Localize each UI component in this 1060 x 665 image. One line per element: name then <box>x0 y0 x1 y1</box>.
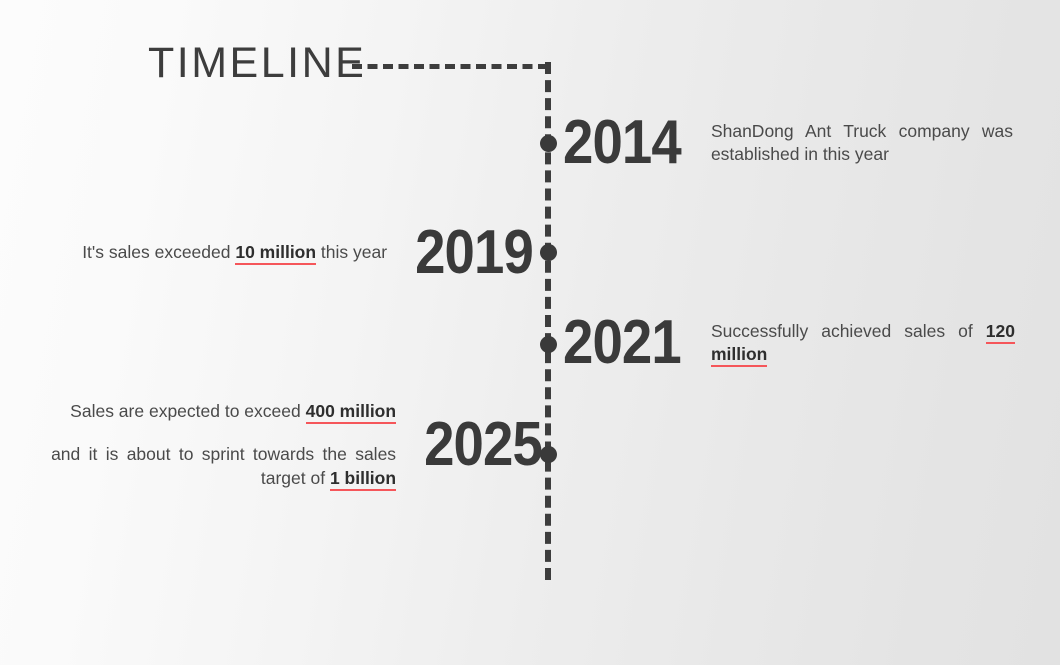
description-paragraph: Successfully achieved sales of 120 milli… <box>711 320 1015 367</box>
timeline-dot-2021 <box>540 336 557 353</box>
highlighted-figure: 1 billion <box>330 468 396 491</box>
title-dashed-connector <box>352 64 548 69</box>
timeline-dot-2014 <box>540 135 557 152</box>
timeline-entry-2014[interactable]: 2014 ShanDong Ant Truck company was esta… <box>563 112 1013 174</box>
description-paragraph: and it is about to sprint towards the sa… <box>51 443 396 490</box>
timeline-entry-2019[interactable]: It's sales exceeded 10 million this year… <box>60 222 533 284</box>
entry-description-2025: Sales are expected to exceed 400 million… <box>51 400 396 490</box>
highlighted-figure: 10 million <box>235 242 316 265</box>
description-text: Successfully achieved sales of <box>711 321 986 341</box>
description-text: Sales are expected to exceed <box>70 401 305 421</box>
timeline-dot-2025 <box>540 446 557 463</box>
description-text: It's sales exceeded <box>82 242 235 262</box>
entry-description-2014: ShanDong Ant Truck company was establish… <box>711 120 1013 167</box>
timeline-entry-2021[interactable]: 2021 Successfully achieved sales of 120 … <box>563 312 1015 374</box>
year-label-2019: 2019 <box>415 222 533 284</box>
description-paragraph: Sales are expected to exceed 400 million <box>51 400 396 423</box>
timeline-entry-2025[interactable]: Sales are expected to exceed 400 million… <box>40 400 542 490</box>
timeline-dot-2019 <box>540 244 557 261</box>
year-label-2021: 2021 <box>563 312 681 374</box>
entry-description-2021: Successfully achieved sales of 120 milli… <box>711 320 1015 367</box>
entry-description-2019: It's sales exceeded 10 million this year <box>70 241 387 264</box>
year-label-2014: 2014 <box>563 112 681 174</box>
year-label-2025: 2025 <box>424 414 542 476</box>
page-title: TIMELINE <box>148 42 366 85</box>
description-text: ShanDong Ant Truck company was establish… <box>711 121 1013 164</box>
description-paragraph: ShanDong Ant Truck company was establish… <box>711 120 1013 167</box>
description-paragraph: It's sales exceeded 10 million this year <box>70 241 387 264</box>
timeline-infographic: TIMELINE 2014 ShanDong Ant Truck company… <box>0 0 1060 665</box>
description-text: this year <box>316 242 387 262</box>
highlighted-figure: 400 million <box>306 401 396 424</box>
